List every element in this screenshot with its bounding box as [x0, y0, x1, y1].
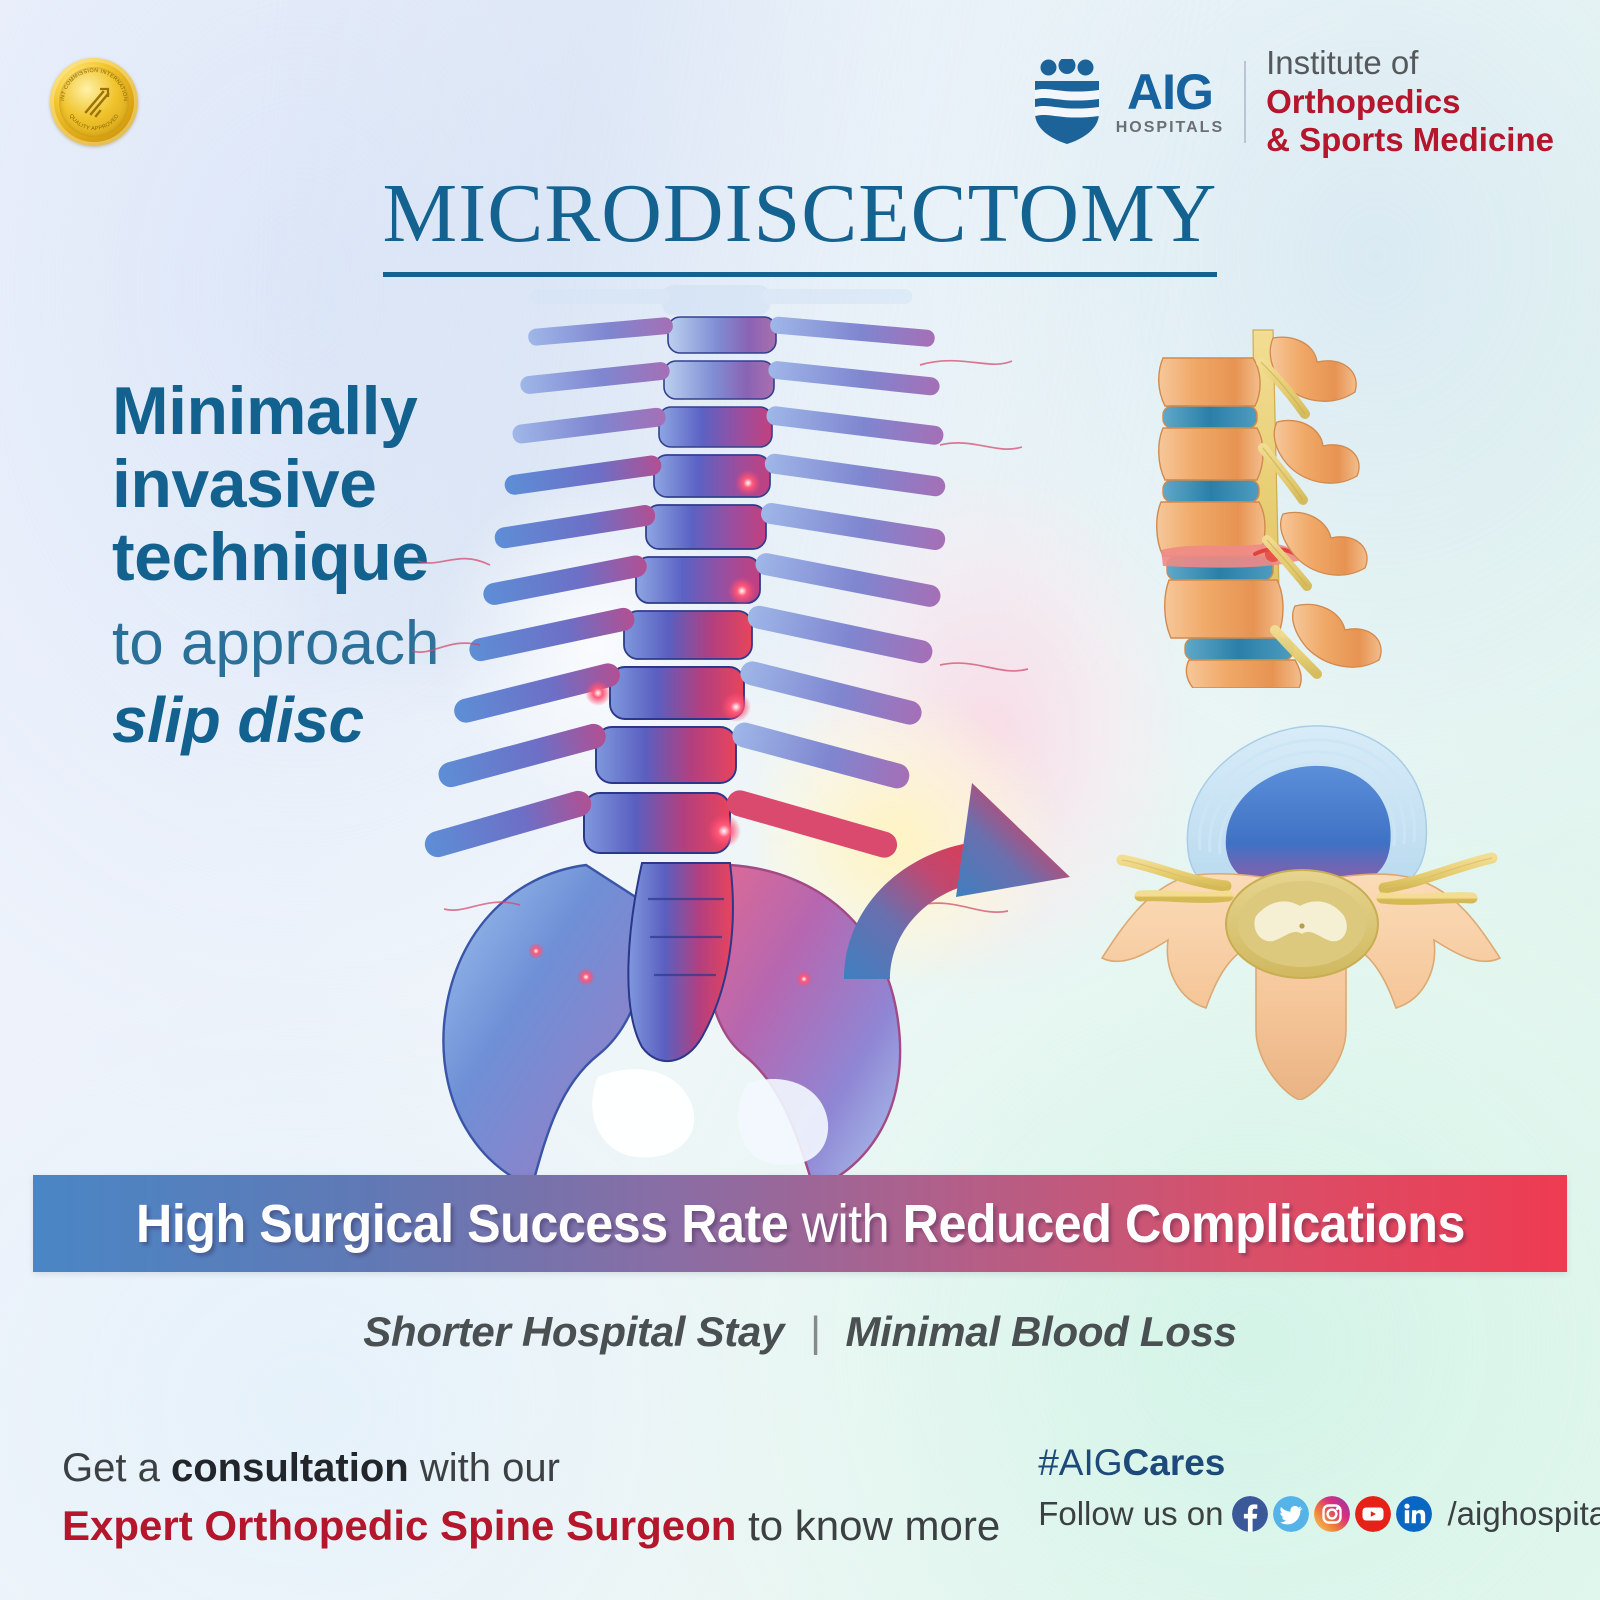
hashtag-part-b: Cares — [1123, 1442, 1226, 1483]
aig-wordmark-sub: HOSPITALS — [1116, 120, 1224, 136]
aig-shield-icon — [1031, 59, 1103, 145]
cta-line-1: Get a consultation with our — [62, 1442, 1000, 1495]
page-title-text: MICRODISCECTOMY — [383, 167, 1218, 277]
institute-name: Institute of Orthopedics & Sports Medici… — [1266, 44, 1554, 160]
headline-line-4: to approach — [112, 609, 582, 678]
headline-block: Minimally invasive technique to approach… — [112, 375, 582, 755]
svg-text:QUALITY APPROVED: QUALITY APPROVED — [68, 113, 121, 132]
page-title: MICRODISCECTOMY — [0, 165, 1600, 262]
footer: Get a consultation with our Expert Ortho… — [62, 1442, 1552, 1564]
banner-text: High Surgical Success Rate with Reduced … — [136, 1193, 1465, 1255]
linkedin-icon[interactable] — [1396, 1496, 1432, 1532]
institute-line-1: Institute of — [1266, 44, 1554, 83]
headline-line-1: Minimally — [112, 375, 582, 448]
footer-social-block: #AIGCares Follow us on — [1038, 1442, 1600, 1533]
follow-label: Follow us on — [1038, 1495, 1223, 1533]
instagram-icon[interactable] — [1314, 1496, 1350, 1532]
cta-text-b: consultation — [171, 1446, 409, 1490]
jci-accreditation-seal-icon: JOINT COMMISSION INTERNATIONAL QUALITY A… — [50, 58, 138, 146]
aig-wordmark-main: AIG — [1127, 67, 1213, 117]
cta-text-a: Get a — [62, 1446, 171, 1490]
cta-text-d: Expert Orthopedic Spine Surgeon — [62, 1502, 736, 1549]
social-handle: /aighospitals — [1447, 1495, 1600, 1533]
headline-line-5: slip disc — [112, 685, 582, 755]
aig-logo-left: AIG HOSPITALS — [1031, 59, 1224, 145]
social-icons — [1232, 1496, 1432, 1532]
highlight-banner: High Surgical Success Rate with Reduced … — [33, 1175, 1567, 1272]
benefit-divider: | — [795, 1308, 834, 1355]
twitter-icon[interactable] — [1273, 1496, 1309, 1532]
follow-row: Follow us on — [1038, 1495, 1600, 1533]
benefit-left: Shorter Hospital Stay — [363, 1308, 784, 1355]
cta-text-c: with our — [409, 1446, 560, 1490]
seal-engraving-icon: JOINT COMMISSION INTERNATIONAL QUALITY A… — [50, 58, 138, 146]
headline-line-2: invasive — [112, 448, 582, 521]
institute-line-3: & Sports Medicine — [1266, 121, 1554, 160]
banner-part-1: High Surgical Success Rate — [136, 1194, 788, 1254]
benefits-line: Shorter Hospital Stay | Minimal Blood Lo… — [0, 1308, 1600, 1356]
banner-part-3: Reduced Complications — [902, 1194, 1464, 1254]
youtube-icon[interactable] — [1355, 1496, 1391, 1532]
institute-line-2: Orthopedics — [1266, 83, 1554, 122]
headline-line-3: technique — [112, 521, 582, 594]
facebook-icon[interactable] — [1232, 1496, 1268, 1532]
footer-cta: Get a consultation with our Expert Ortho… — [62, 1442, 1000, 1553]
aig-wordmark: AIG HOSPITALS — [1116, 67, 1224, 136]
aig-hospitals-logo: AIG HOSPITALS Institute of Orthopedics &… — [1031, 44, 1554, 160]
cta-text-e: to know more — [736, 1502, 1000, 1549]
svg-text:JOINT COMMISSION INTERNATIONAL: JOINT COMMISSION INTERNATIONAL — [50, 58, 128, 101]
cta-line-2: Expert Orthopedic Spine Surgeon to know … — [62, 1499, 1000, 1554]
benefit-right: Minimal Blood Loss — [845, 1308, 1236, 1355]
hashtag: #AIGCares — [1038, 1442, 1600, 1485]
poster-canvas: JOINT COMMISSION INTERNATIONAL QUALITY A… — [0, 0, 1600, 1600]
banner-part-2: with — [801, 1194, 888, 1254]
logo-divider — [1244, 61, 1246, 143]
hashtag-part-a: #AIG — [1038, 1442, 1122, 1483]
